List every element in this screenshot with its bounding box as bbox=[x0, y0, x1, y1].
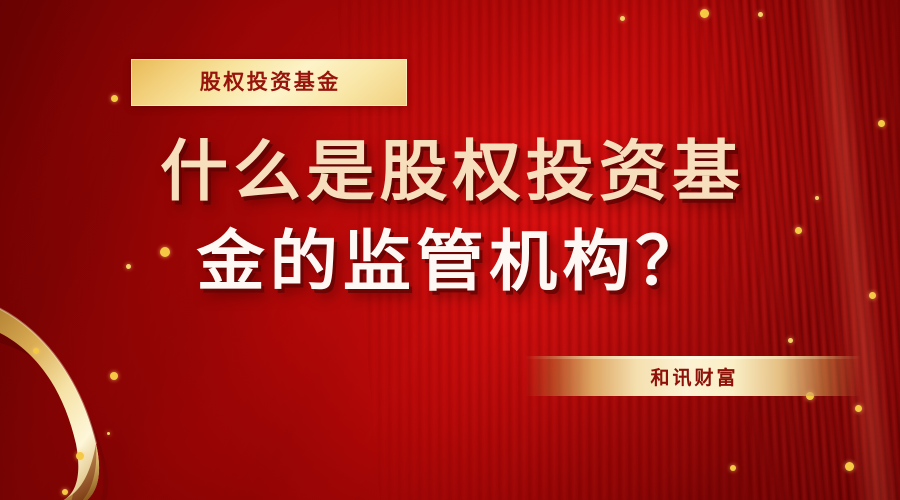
sparkle-dot bbox=[730, 465, 736, 471]
sparkle-dot bbox=[620, 16, 625, 21]
sparkle-dot bbox=[758, 12, 763, 17]
sparkle-dot bbox=[700, 9, 709, 18]
sparkle-dot bbox=[126, 264, 131, 269]
sparkle-dot bbox=[107, 432, 110, 435]
category-badge-label: 股权投资基金 bbox=[197, 72, 341, 93]
sparkle-dot bbox=[111, 95, 118, 102]
sparkle-dot bbox=[160, 247, 170, 257]
sparkle-dot bbox=[76, 452, 84, 460]
sparkle-dot bbox=[795, 227, 802, 234]
category-badge[interactable]: 股权投资基金 bbox=[131, 59, 407, 106]
poster-canvas: 股权投资基金 什么是股权投资基 金的监管机构？ 和讯财富 bbox=[0, 0, 900, 500]
sparkle-dot bbox=[855, 405, 862, 412]
sparkle-dot bbox=[878, 120, 885, 127]
sparkle-dot bbox=[845, 462, 854, 471]
sparkle-dot bbox=[33, 348, 39, 354]
brand-banner[interactable]: 和讯财富 bbox=[525, 356, 861, 396]
sparkle-dot bbox=[62, 489, 68, 495]
sparkle-dot bbox=[869, 292, 876, 299]
brand-banner-label: 和讯财富 bbox=[647, 363, 738, 390]
sparkle-dot bbox=[110, 372, 118, 380]
sparkle-dot bbox=[815, 196, 819, 200]
sparkle-dot bbox=[788, 338, 793, 343]
